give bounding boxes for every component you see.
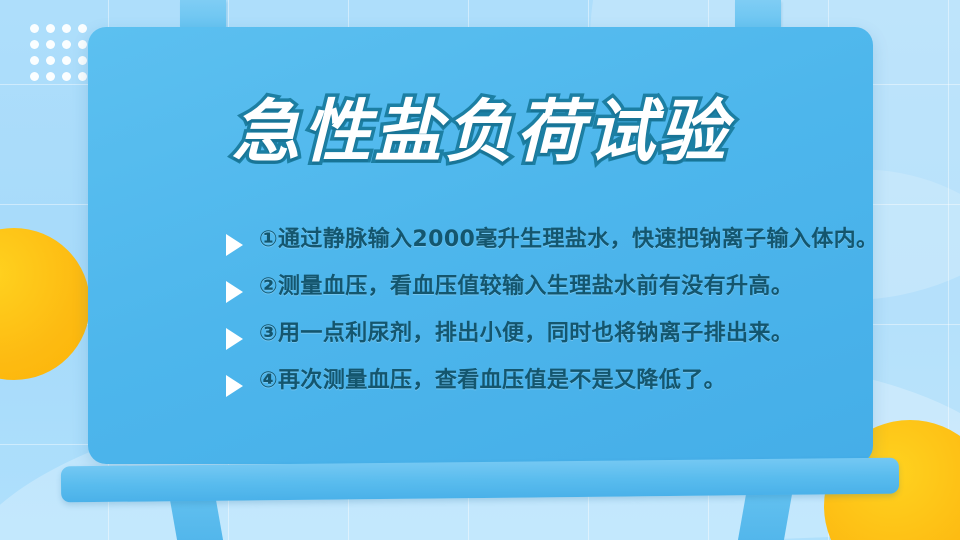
dot-grid-icon: [30, 24, 94, 88]
content-board: 急性盐负荷试验 ①通过静脉输入2000毫升生理盐水，快速把钠离子输入体内。 ②测…: [88, 27, 873, 464]
list-item: ④再次测量血压，查看血压值是不是又降低了。: [226, 364, 926, 398]
slide-canvas: 急性盐负荷试验 ①通过静脉输入2000毫升生理盐水，快速把钠离子输入体内。 ②测…: [0, 0, 960, 540]
triangle-right-icon: [226, 328, 243, 350]
triangle-right-icon: [226, 375, 243, 397]
page-title: 急性盐负荷试验: [88, 99, 873, 167]
steps-list: ①通过静脉输入2000毫升生理盐水，快速把钠离子输入体内。 ②测量血压，看血压值…: [226, 223, 926, 411]
list-item-text: ④再次测量血压，查看血压值是不是又降低了。: [259, 364, 926, 398]
list-item-text: ①通过静脉输入2000毫升生理盐水，快速把钠离子输入体内。: [259, 223, 926, 257]
list-item: ②测量血压，看血压值较输入生理盐水前有没有升高。: [226, 270, 926, 304]
list-item-text: ③用一点利尿剂，排出小便，同时也将钠离子排出来。: [259, 317, 926, 351]
easel-leg-icon-right: [738, 492, 793, 540]
triangle-right-icon: [226, 281, 243, 303]
list-item: ①通过静脉输入2000毫升生理盐水，快速把钠离子输入体内。: [226, 223, 926, 257]
triangle-right-icon: [226, 234, 243, 256]
list-item: ③用一点利尿剂，排出小便，同时也将钠离子排出来。: [226, 317, 926, 351]
list-item-text: ②测量血压，看血压值较输入生理盐水前有没有升高。: [259, 270, 926, 304]
